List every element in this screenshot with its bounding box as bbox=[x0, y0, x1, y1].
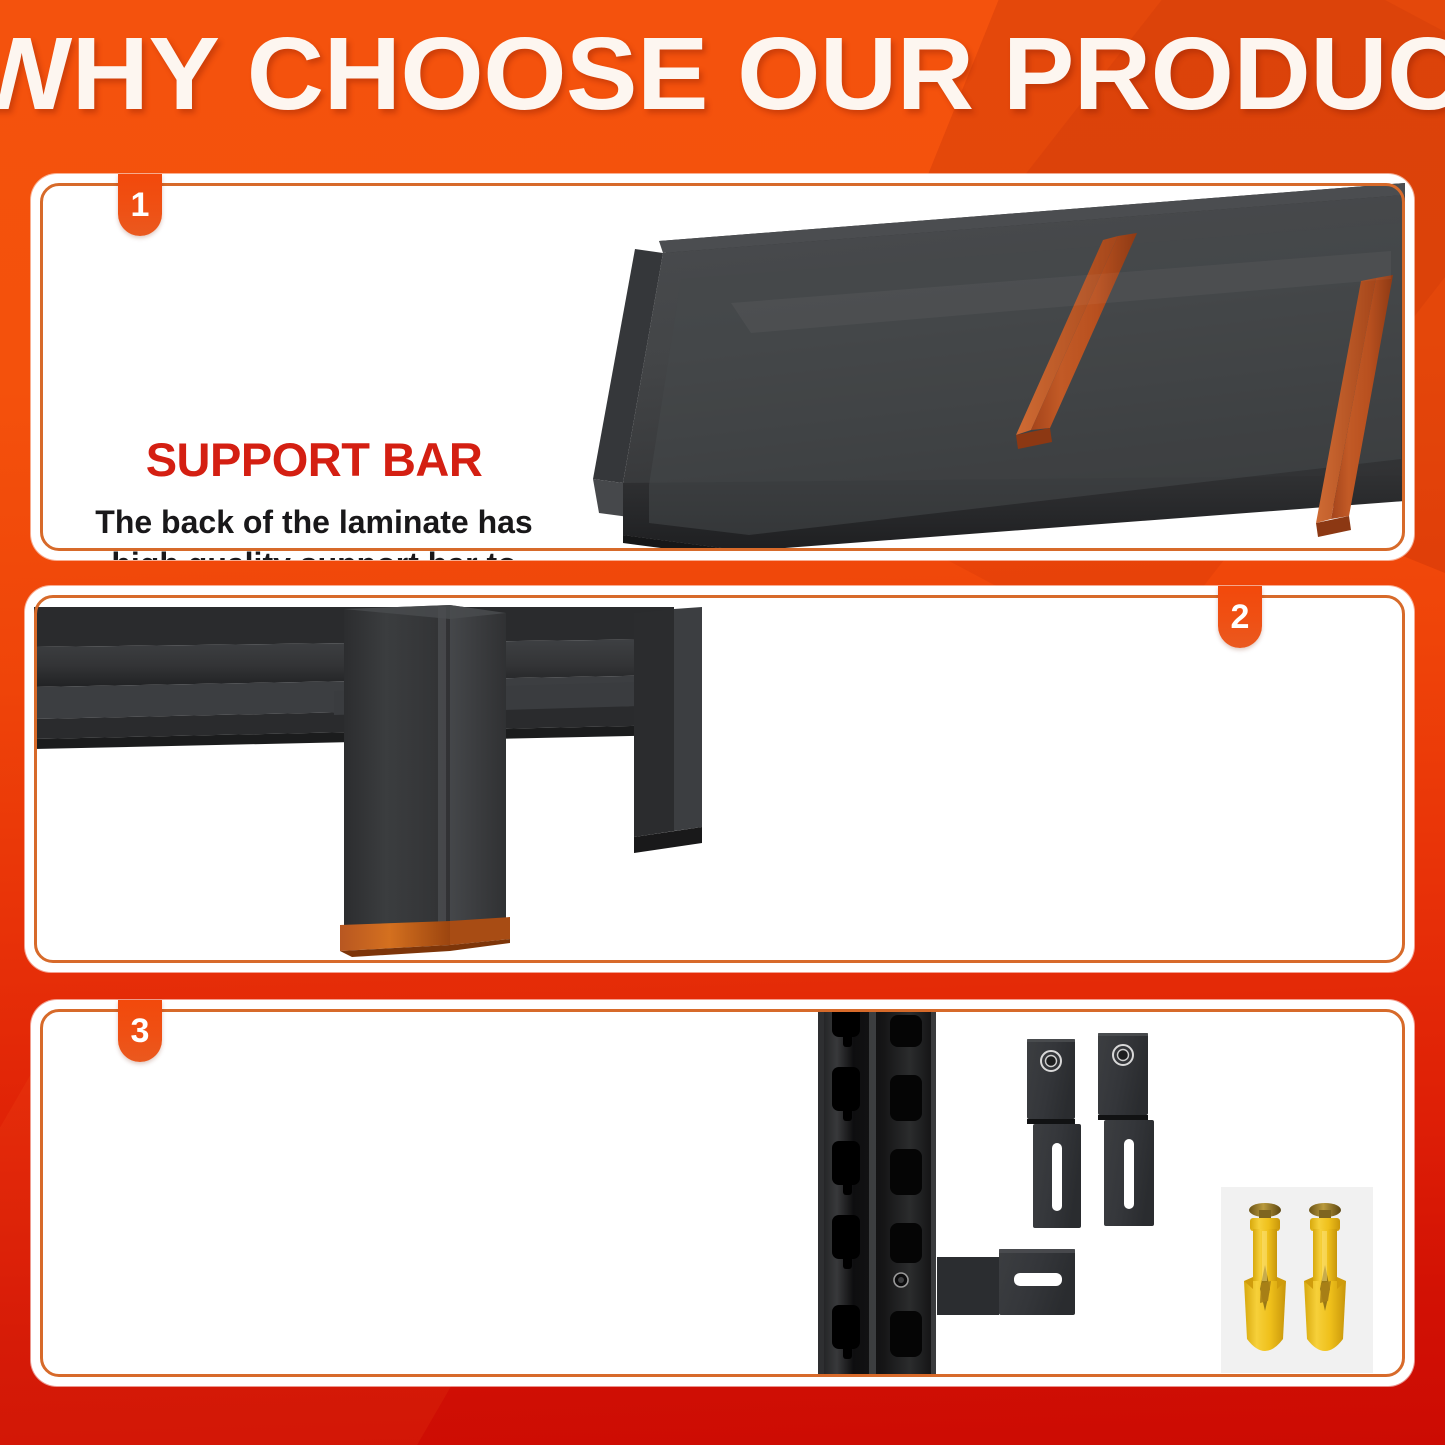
post-rivet bbox=[894, 1273, 908, 1287]
mounted-clip bbox=[937, 1249, 1075, 1315]
anti-tipping-clips-product-image bbox=[781, 1009, 1405, 1377]
feature-badge-2: 2 bbox=[1218, 586, 1262, 648]
page-title: WHY CHOOSE OUR PRODUCT bbox=[0, 18, 1445, 130]
feature-card-anti-tipping-clips: ANTI-TIPPING CLIPS Anti-tipping clips ke… bbox=[31, 1000, 1414, 1386]
feature-card-foot-pads: FOOT PADS The Foot pads not only pro-tec… bbox=[25, 586, 1414, 972]
feature-badge-3: 3 bbox=[118, 1000, 162, 1062]
support-bar-product-image bbox=[531, 183, 1405, 551]
post-clips-anchors-illustration bbox=[781, 1009, 1405, 1377]
feature-badge-1: 1 bbox=[118, 174, 162, 236]
infographic-canvas: WHY CHOOSE OUR PRODUCT bbox=[0, 0, 1445, 1445]
feature-card-support-bar: SUPPORT BAR The back of the laminate has… bbox=[31, 174, 1414, 560]
shelf-board-illustration bbox=[531, 183, 1405, 551]
feature-text-block-1: SUPPORT BAR The back of the laminate has… bbox=[79, 436, 549, 560]
foot-pads-product-image bbox=[34, 595, 774, 963]
feature-body-1: The back of the laminate has high qualit… bbox=[79, 502, 549, 560]
shelf-legs-illustration bbox=[34, 595, 774, 963]
clip-bracket-right bbox=[1098, 1033, 1154, 1226]
clip-bracket-left bbox=[1027, 1039, 1081, 1228]
feature-title-1: SUPPORT BAR bbox=[79, 436, 549, 484]
